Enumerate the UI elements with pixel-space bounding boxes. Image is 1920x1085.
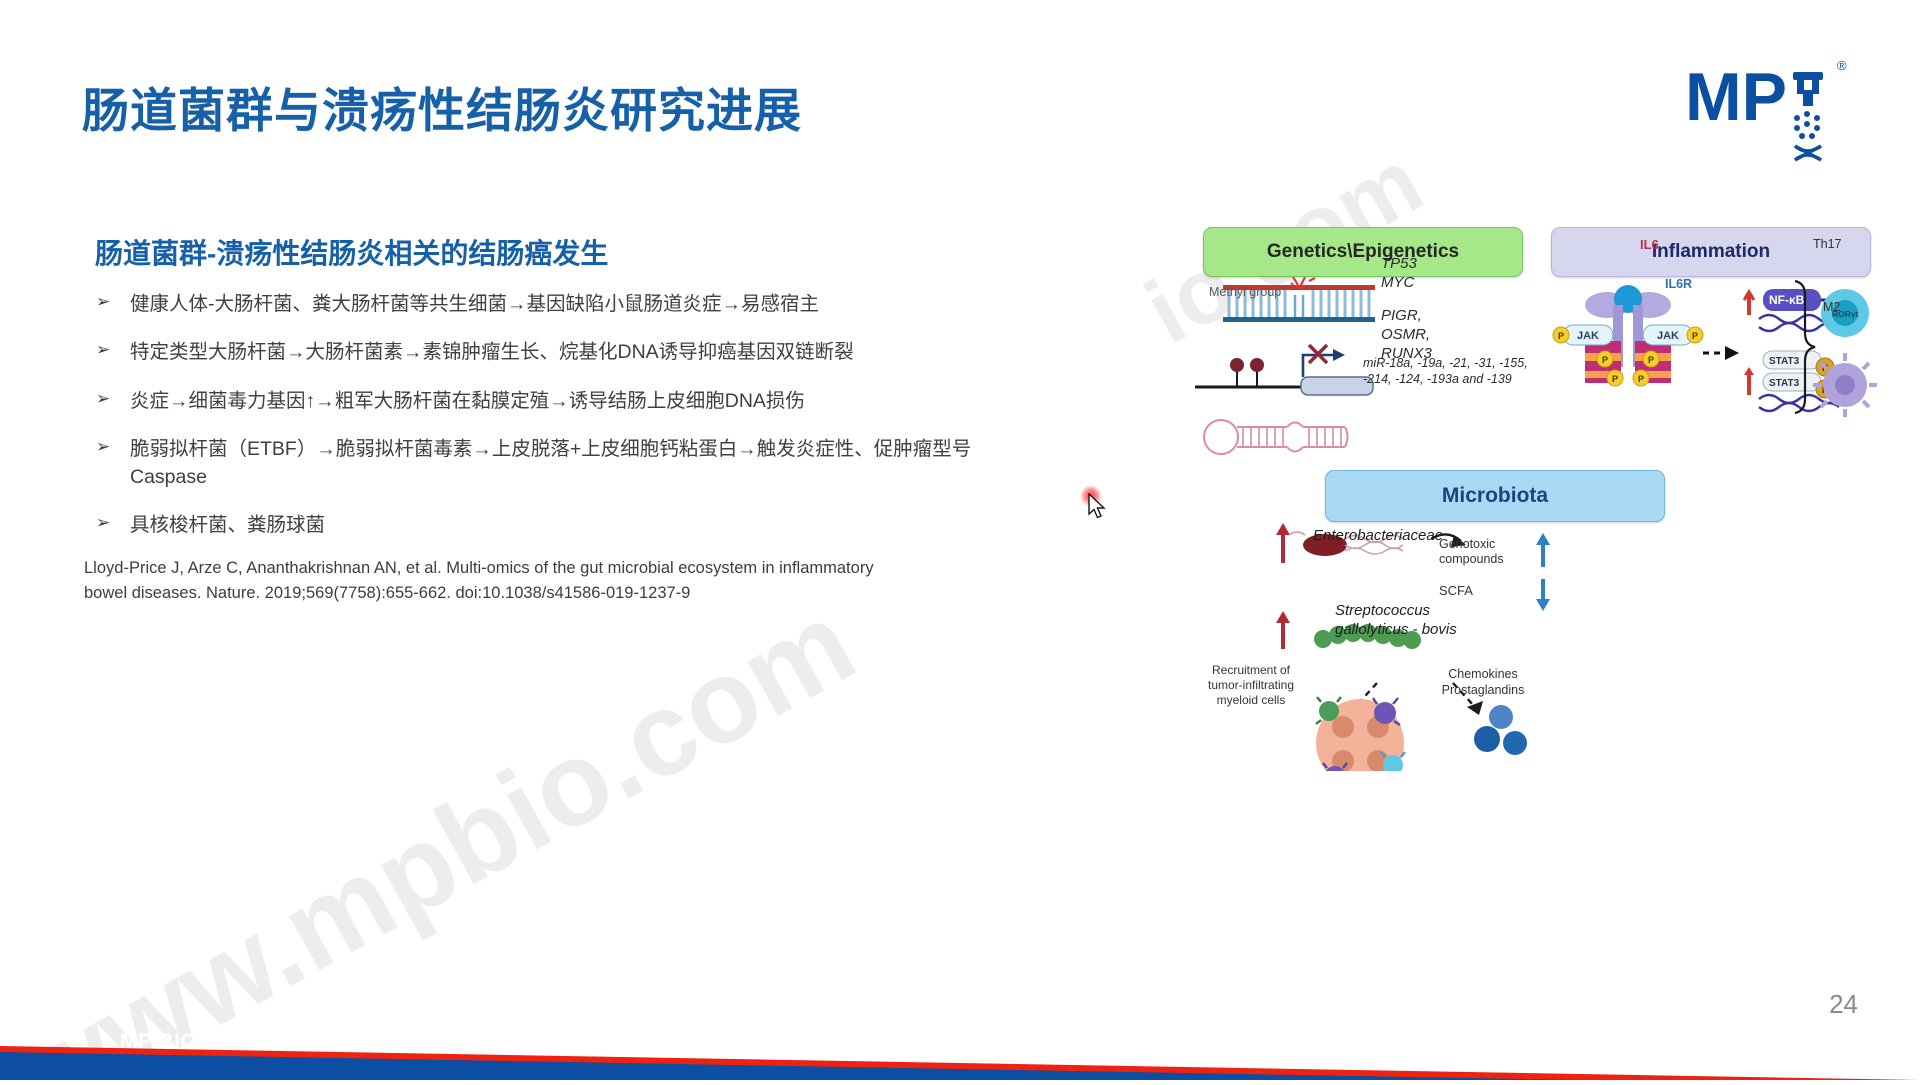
svg-text:MP: MP <box>1685 59 1787 135</box>
label-streptococcus: Streptococcus gallolyticus - bovis <box>1335 601 1457 639</box>
tumor-myeloid-icon <box>1316 697 1406 771</box>
list-item: ➢ 特定类型大肠杆菌→大肠杆菌素→素锦肿瘤生长、烷基化DNA诱导抑癌基因双链断裂 <box>96 338 976 366</box>
bullet-marker-icon: ➢ <box>96 387 130 413</box>
bullet-marker-icon: ➢ <box>96 511 130 537</box>
footer-bar <box>0 950 1920 1080</box>
bullet-text: 脆弱拟杆菌（ETBF）→脆弱拟杆菌毒素→上皮脱落+上皮细胞钙粘蛋白→触发炎症性、… <box>130 435 976 492</box>
list-item: ➢ 炎症→细菌毒力基因↑→粗军大肠杆菌在黏膜定殖→诱导结肠上皮细胞DNA损伤 <box>96 387 976 415</box>
footer-brand-label: MP BIOMEDICALS <box>120 1030 311 1054</box>
label-il6r: IL6R <box>1665 277 1692 291</box>
microbiota-panel-graphic <box>1195 521 1625 771</box>
svg-text:P: P <box>1612 374 1618 384</box>
figure-box-microbiota: Microbiota <box>1325 470 1665 522</box>
svg-text:®: ® <box>1837 58 1847 73</box>
svg-text:P: P <box>1692 331 1698 341</box>
citation-text: Lloyd-Price J, Arze C, Ananthakrishnan A… <box>84 556 914 606</box>
svg-text:P: P <box>1648 355 1654 365</box>
scfa-decrease-arrow-icon <box>1536 579 1550 611</box>
brace-icon <box>1795 281 1815 413</box>
label-enterobacteriaceae: Enterobacteriaceae <box>1313 527 1443 544</box>
signal-arrow-icon <box>1703 346 1739 360</box>
chemokine-dots-icon <box>1474 705 1527 755</box>
bullet-marker-icon: ➢ <box>96 435 130 461</box>
genotoxic-increase-arrow-icon <box>1536 533 1550 567</box>
pathway-figure: Genetics\Epigenetics Inflammation <box>1195 215 1885 775</box>
cursor-arrow-icon <box>1088 493 1108 521</box>
svg-text:P: P <box>1602 355 1608 365</box>
label-recruitment: Recruitment of tumor-infiltrating myeloi… <box>1190 663 1312 708</box>
label-genotoxic-compounds: Genotoxic compounds <box>1439 537 1504 568</box>
dna-ladder-icon <box>1223 277 1375 322</box>
mirna-hairpin-icon <box>1204 420 1348 454</box>
label-scfa: SCFA <box>1439 583 1473 598</box>
il6-receptor-icon: JAK JAK P P P P P P <box>1553 285 1703 386</box>
label-th17: Th17 <box>1813 237 1842 251</box>
label-m2: M2 <box>1823 300 1840 314</box>
slide-title: 肠道菌群与溃疡性结肠炎研究进展 <box>82 72 802 141</box>
label-methyl-group: Methyl group <box>1209 285 1281 299</box>
m2-macrophage-icon <box>1813 353 1877 417</box>
bullet-text: 具核梭杆菌、粪肠球菌 <box>130 511 976 539</box>
immune-cells-graphic: RORγt <box>1791 273 1881 423</box>
list-item: ➢ 脆弱拟杆菌（ETBF）→脆弱拟杆菌毒素→上皮脱落+上皮细胞钙粘蛋白→触发炎症… <box>96 435 976 492</box>
figure-box-inflammation: Inflammation <box>1551 227 1871 277</box>
svg-text:JAK: JAK <box>1577 330 1599 342</box>
methylated-gene-icon <box>1195 345 1373 395</box>
increase-arrow-icon <box>1276 523 1290 563</box>
page-number: 24 <box>1829 989 1858 1020</box>
slide-subtitle: 肠道菌群-溃疡性结肠炎相关的结肠癌发生 <box>95 232 608 272</box>
dot-grid-icon <box>1794 111 1820 139</box>
increase-arrow-icon <box>1276 611 1290 649</box>
label-genes-dna: TP53 MYC <box>1381 255 1417 293</box>
mp-logo: MP ® <box>1685 48 1855 168</box>
svg-text:JAK: JAK <box>1657 330 1679 342</box>
label-il6: IL6 <box>1640 237 1659 252</box>
bullet-text: 健康人体-大肠杆菌、粪大肠杆菌等共生细菌→基因缺陷小鼠肠道炎症→易感宿主 <box>130 290 976 318</box>
bullet-marker-icon: ➢ <box>96 290 130 316</box>
list-item: ➢ 健康人体-大肠杆菌、粪大肠杆菌等共生细菌→基因缺陷小鼠肠道炎症→易感宿主 <box>96 290 976 318</box>
bullet-marker-icon: ➢ <box>96 338 130 364</box>
list-item: ➢ 具核梭杆菌、粪肠球菌 <box>96 511 976 539</box>
figure-box-genetics: Genetics\Epigenetics <box>1203 227 1523 277</box>
dna-helix-icon <box>1795 146 1821 160</box>
svg-text:P: P <box>1638 374 1644 384</box>
label-mirnas: miR-18a, -19a, -21, -31, -155, -214, -12… <box>1363 355 1528 388</box>
label-chemokines: Chemokines Prostaglandins <box>1423 667 1543 698</box>
bullet-text: 特定类型大肠杆菌→大肠杆菌素→素锦肿瘤生长、烷基化DNA诱导抑癌基因双链断裂 <box>130 338 976 366</box>
bullet-text: 炎症→细菌毒力基因↑→粗军大肠杆菌在黏膜定殖→诱导结肠上皮细胞DNA损伤 <box>130 387 976 415</box>
bullet-list: ➢ 健康人体-大肠杆菌、粪大肠杆菌等共生细菌→基因缺陷小鼠肠道炎症→易感宿主 ➢… <box>96 290 976 560</box>
antibody-icon <box>1793 72 1823 106</box>
svg-text:P: P <box>1558 331 1564 341</box>
